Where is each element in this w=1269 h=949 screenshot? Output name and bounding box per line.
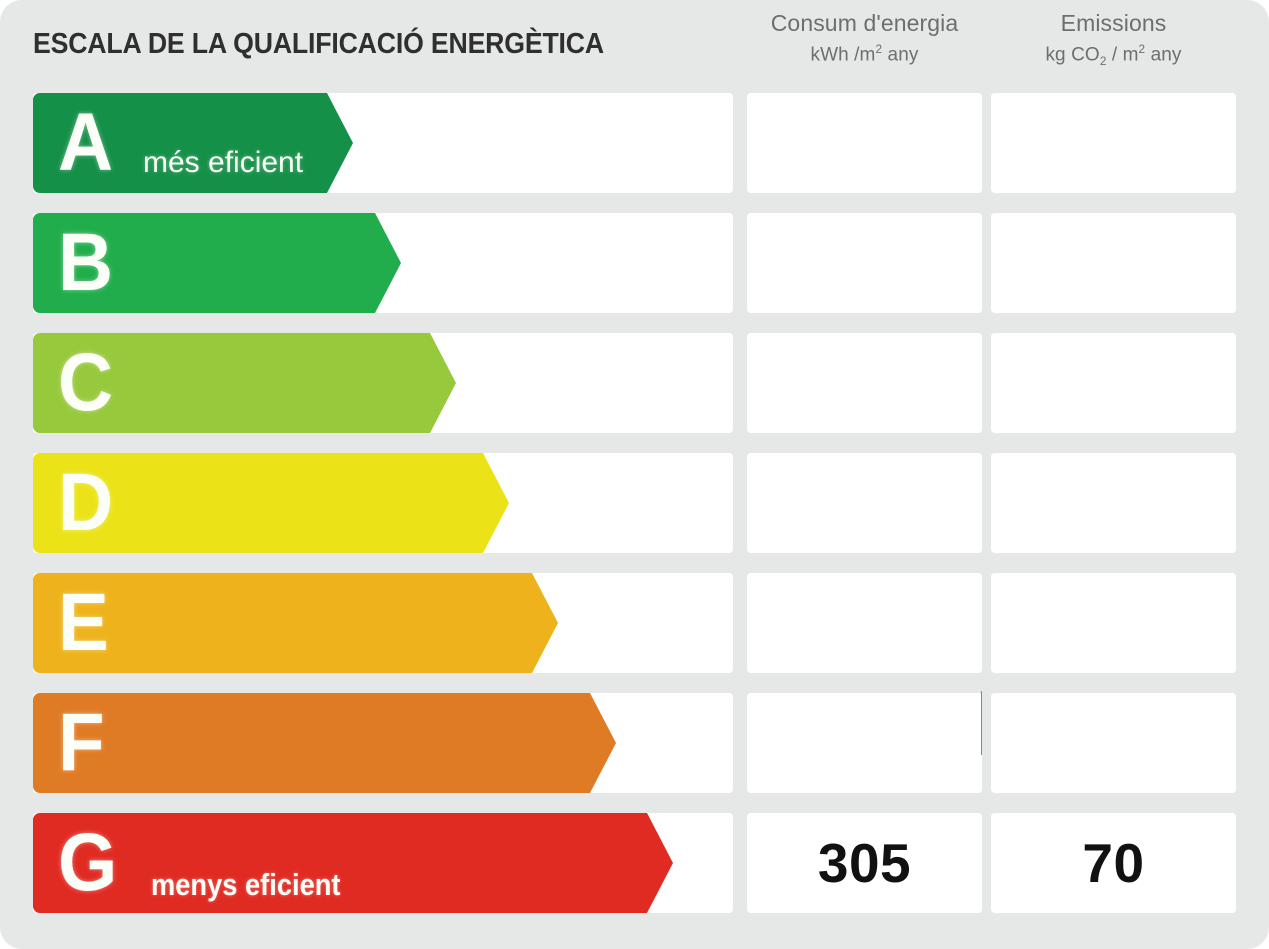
rating-letter-a: A bbox=[58, 102, 113, 184]
emissions-value-g: 70 bbox=[1082, 836, 1144, 891]
page-title: ESCALA DE LA QUALIFICACIÓ ENERGÈTICA bbox=[33, 28, 604, 61]
consum-cell-b bbox=[747, 213, 982, 313]
rating-note-a: més eficient bbox=[143, 146, 303, 180]
consum-value-g: 305 bbox=[818, 836, 911, 891]
consum-cell-e bbox=[747, 573, 982, 673]
rating-bar-e: E bbox=[33, 573, 558, 673]
rating-bar-a: Amés eficient bbox=[33, 93, 353, 193]
rating-bar-c: C bbox=[33, 333, 456, 433]
rating-bar-g: Gmenys eficient bbox=[33, 813, 673, 913]
emissions-cell-b bbox=[991, 213, 1236, 313]
rating-row-e: E bbox=[0, 573, 1269, 673]
rating-note-g: menys eficient bbox=[151, 867, 341, 903]
rating-bar-d: D bbox=[33, 453, 509, 553]
emissions-cell-f bbox=[991, 693, 1236, 793]
consum-cell-g: 305 bbox=[747, 813, 982, 913]
rating-bar-b: B bbox=[33, 213, 401, 313]
column-header-emissions-unit: kg CO2 / m2 any bbox=[991, 43, 1236, 69]
rating-letter-d: D bbox=[58, 462, 113, 544]
consum-cell-f bbox=[747, 693, 982, 793]
column-header-emissions: Emissions kg CO2 / m2 any bbox=[991, 10, 1236, 69]
rating-letter-g: G bbox=[58, 822, 117, 904]
emissions-cell-e bbox=[991, 573, 1236, 673]
rating-letter-f: F bbox=[58, 702, 105, 784]
energy-rating-label: ESCALA DE LA QUALIFICACIÓ ENERGÈTICA Con… bbox=[0, 0, 1269, 949]
cell-rule-artifact bbox=[981, 691, 982, 755]
label-header: ESCALA DE LA QUALIFICACIÓ ENERGÈTICA Con… bbox=[0, 0, 1269, 90]
emissions-cell-a bbox=[991, 93, 1236, 193]
column-header-consum: Consum d'energia kWh /m2 any bbox=[747, 10, 982, 67]
rating-letter-e: E bbox=[58, 582, 109, 664]
rating-row-d: D bbox=[0, 453, 1269, 553]
consum-cell-c bbox=[747, 333, 982, 433]
column-header-consum-unit: kWh /m2 any bbox=[747, 43, 982, 66]
rating-row-b: B bbox=[0, 213, 1269, 313]
rating-row-c: C bbox=[0, 333, 1269, 433]
emissions-cell-d bbox=[991, 453, 1236, 553]
column-header-consum-title: Consum d'energia bbox=[747, 10, 982, 36]
emissions-cell-c bbox=[991, 333, 1236, 433]
rating-row-g: Gmenys eficient30570 bbox=[0, 813, 1269, 913]
consum-cell-a bbox=[747, 93, 982, 193]
rating-row-a: Amés eficient bbox=[0, 93, 1269, 193]
rating-row-f: F bbox=[0, 693, 1269, 793]
rating-letter-b: B bbox=[58, 222, 113, 304]
emissions-cell-g: 70 bbox=[991, 813, 1236, 913]
rating-bar-f: F bbox=[33, 693, 616, 793]
column-header-emissions-title: Emissions bbox=[991, 10, 1236, 36]
rating-letter-c: C bbox=[58, 342, 113, 424]
consum-cell-d bbox=[747, 453, 982, 553]
